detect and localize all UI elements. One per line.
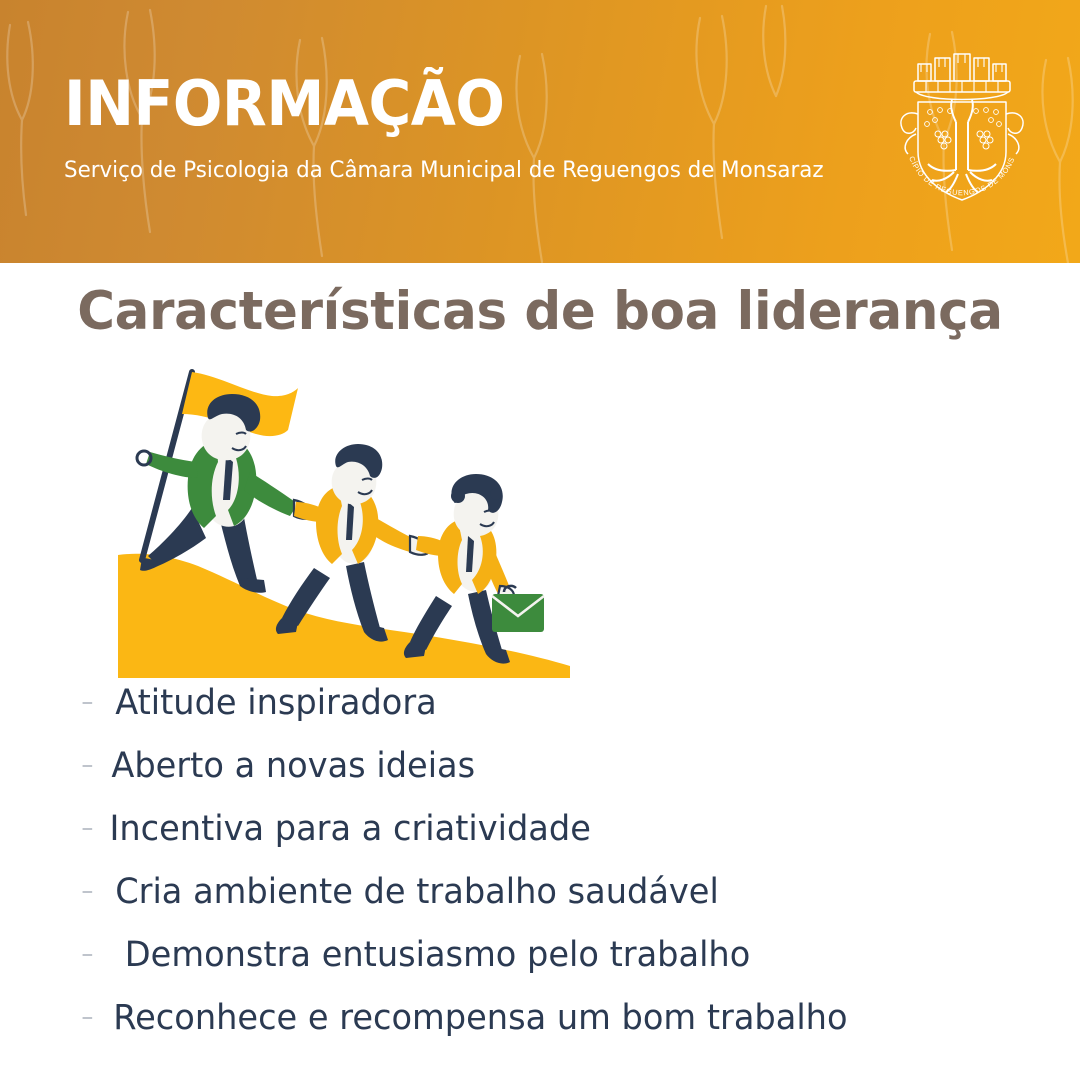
tick-mark — [83, 1017, 93, 1019]
tick-mark — [83, 891, 93, 893]
leader-right-arm — [244, 472, 298, 516]
list-item-label: Aberto a novas ideias — [111, 746, 475, 786]
tick-mark — [83, 765, 93, 767]
list-item: Atitude inspiradora — [96, 672, 998, 735]
poster-kicker: INFORMAÇÃO — [64, 72, 835, 135]
list-item-label: Cria ambiente de trabalho saudável — [115, 872, 719, 912]
tick-mark — [83, 954, 93, 956]
header-banner: INFORMAÇÃO Serviço de Psicologia da Câma… — [0, 0, 1080, 263]
follower-figure-1 — [276, 444, 430, 642]
list-item-label: Demonstra entusiasmo pelo trabalho — [125, 935, 751, 975]
follower1-left-arm — [294, 502, 322, 522]
list-item-label: Atitude inspiradora — [115, 683, 437, 723]
list-item: Demonstra entusiasmo pelo trabalho — [96, 924, 998, 987]
team-climbing-hill-illustration — [100, 360, 580, 690]
tick-mark — [83, 828, 93, 830]
poster-subtitle: Serviço de Psicologia da Câmara Municipa… — [64, 135, 843, 183]
leadership-traits-list: Atitude inspiradora Aberto a novas ideia… — [96, 672, 1036, 1050]
list-item: Incentiva para a criatividade — [96, 798, 998, 861]
tick-mark — [83, 702, 93, 704]
coat-of-arms-icon: MUNICÍPIO DE REGUENGOS DE MONSARAZ — [892, 48, 1032, 216]
list-item: Reconhece e recompensa um bom trabalho — [96, 987, 998, 1050]
list-item-label: Reconhece e recompensa um bom trabalho — [113, 998, 847, 1038]
follower-figure-2 — [404, 474, 544, 664]
list-item-label: Incentiva para a criatividade — [109, 809, 590, 849]
list-item: Cria ambiente de trabalho saudável — [96, 861, 998, 924]
header-text-block: INFORMAÇÃO Serviço de Psicologia da Câma… — [64, 72, 884, 183]
list-item: Aberto a novas ideias — [96, 735, 998, 798]
poster-canvas: INFORMAÇÃO Serviço de Psicologia da Câma… — [0, 0, 1080, 1080]
page-title: Características de boa liderança — [16, 281, 1064, 342]
